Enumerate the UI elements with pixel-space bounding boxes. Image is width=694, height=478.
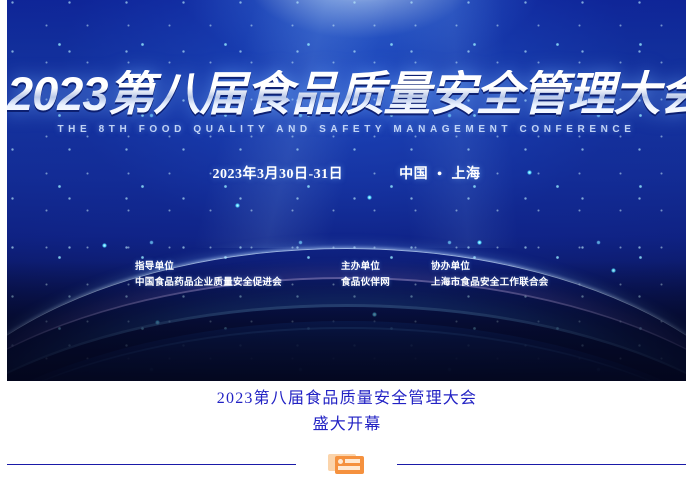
card-icon-bar-top (345, 459, 360, 463)
organizer-host: 主办单位 食品伙伴网 (341, 260, 413, 291)
organizer-cohost: 协办单位 上海市食品安全工作联合会 (431, 260, 549, 291)
organizer-guidance: 指导单位 中国食品药品企业质量安全促进会 (135, 260, 323, 291)
card-icon-dot (338, 459, 343, 464)
conference-banner: 2023第八届食品质量安全管理大会 THE 8TH FOOD QUALITY A… (7, 0, 686, 381)
conference-country: 中国 (399, 167, 428, 182)
divider-rule-left (7, 464, 296, 465)
caption-line-2: 盛大开幕 (0, 412, 694, 438)
article-card-icon (327, 453, 367, 475)
organizer-role: 主办单位 (341, 260, 413, 276)
caption-line-1: 2023第八届食品质量安全管理大会 (0, 386, 694, 412)
banner-english-subtitle: THE 8TH FOOD QUALITY AND SAFETY MANAGEME… (7, 124, 686, 135)
article-caption: 2023第八届食品质量安全管理大会 盛大开幕 (0, 386, 694, 438)
organizer-name: 上海市食品安全工作联合会 (431, 276, 549, 292)
organizer-name: 食品伙伴网 (341, 276, 413, 292)
conference-date: 2023年3月30日-31日 (212, 167, 343, 182)
banner-text-layer: 2023第八届食品质量安全管理大会 THE 8TH FOOD QUALITY A… (7, 0, 686, 381)
banner-main-title: 2023第八届食品质量安全管理大会 (7, 70, 686, 117)
divider-rule-right (397, 464, 686, 465)
organizer-list: 指导单位 中国食品药品企业质量安全促进会 主办单位 食品伙伴网 协办单位 上海市… (7, 260, 686, 291)
organizer-name: 中国食品药品企业质量安全促进会 (135, 276, 323, 292)
conference-city: 上海 (452, 167, 481, 182)
card-icon-bar-bottom (338, 466, 361, 470)
banner-meta-row: 2023年3月30日-31日 中国 • 上海 (7, 163, 686, 183)
location-separator: • (437, 167, 442, 182)
organizer-role: 指导单位 (135, 260, 323, 276)
section-divider (7, 452, 686, 476)
organizer-role: 协办单位 (431, 260, 549, 276)
